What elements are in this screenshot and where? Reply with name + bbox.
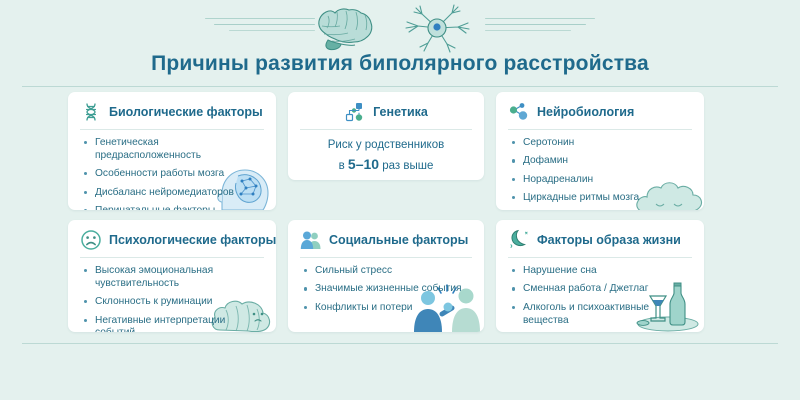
list-item: Конфликты и потери <box>304 302 474 315</box>
cards-grid: Биологические факторы Генетическая предр… <box>68 92 732 340</box>
list-item: Склонность к руминации <box>84 296 266 309</box>
card-title: Факторы образа жизни <box>537 233 681 247</box>
list-item: Генетическая предрасположенность <box>84 137 266 163</box>
card-genetics[interactable]: Генетика Риск у родственников в 5–10 раз… <box>288 92 484 180</box>
card-item-list: Генетическая предрасположенность Особенн… <box>68 137 276 210</box>
list-item: Алкоголь и психоактивные вещества <box>512 302 673 328</box>
list-item: Циркадные ритмы мозга <box>512 192 694 205</box>
card-header: Социальные факторы <box>288 220 484 257</box>
divider-top <box>22 86 778 87</box>
list-item: Сменная работа / Джетлаг <box>512 283 673 296</box>
molecule-icon <box>508 101 530 123</box>
list-item: Особенности работы мозга <box>84 168 266 181</box>
genetics-prefix: в <box>339 160 345 172</box>
card-header-rule <box>300 257 472 258</box>
card-header-rule <box>508 129 692 130</box>
people-icon <box>300 229 322 251</box>
genetics-line-1: Риск у родственников <box>298 137 474 154</box>
card-header: Психологические факторы <box>68 220 276 257</box>
card-item-list: Сильный стресс Значимые жизненные событи… <box>288 265 484 315</box>
decorative-lines-left <box>205 18 315 40</box>
moon-icon <box>508 229 530 251</box>
list-item: Негативные интерпретации событий <box>84 315 266 332</box>
card-header-rule <box>80 129 264 130</box>
list-item: Значимые жизненные события <box>304 283 474 296</box>
list-item: Серотонин <box>512 137 694 150</box>
list-item: Дофамин <box>512 155 694 168</box>
card-title: Социальные факторы <box>329 233 468 247</box>
list-item: Нарушение сна <box>512 265 673 278</box>
family-tree-icon <box>344 101 366 123</box>
header: Причины развития биполярного расстройств… <box>0 0 800 88</box>
card-title: Психологические факторы <box>109 233 276 247</box>
genetics-statement: Риск у родственников в 5–10 раз выше <box>288 137 484 174</box>
decorative-lines-right <box>485 18 595 40</box>
card-header-rule <box>300 129 472 130</box>
list-item: Высокая эмоциональная чувствительность <box>84 265 266 291</box>
infographic-page: Причины развития биполярного расстройств… <box>0 0 800 400</box>
card-biological[interactable]: Биологические факторы Генетическая предр… <box>68 92 276 210</box>
list-item: Норадреналин <box>512 174 694 187</box>
list-item: Сильный стресс <box>304 265 474 278</box>
card-title: Биологические факторы <box>109 105 263 119</box>
card-item-list: Нарушение сна Сменная работа / Джетлаг А… <box>496 265 704 327</box>
sad-face-icon <box>80 229 102 251</box>
card-psychological[interactable]: Психологические факторы Высокая эмоциона… <box>68 220 276 332</box>
card-social[interactable]: Социальные факторы Сильный стресс Значим… <box>288 220 484 332</box>
list-item: Дисбаланс нейромедиаторов <box>84 187 266 200</box>
genetics-suffix: раз выше <box>382 160 433 172</box>
list-item: Перинатальные факторы <box>84 205 266 210</box>
dna-icon <box>80 101 102 123</box>
genetics-value: 5–10 <box>348 156 379 172</box>
card-header: Генетика <box>288 92 484 129</box>
brain-icon <box>308 2 390 54</box>
card-lifestyle[interactable]: Факторы образа жизни Нарушение сна Сменн… <box>496 220 704 332</box>
card-header: Факторы образа жизни <box>496 220 704 257</box>
page-title: Причины развития биполярного расстройств… <box>0 52 800 76</box>
card-header: Биологические факторы <box>68 92 276 129</box>
card-title: Нейробиология <box>537 105 634 119</box>
card-header: Нейробиология <box>496 92 704 129</box>
hero-illustration <box>0 2 800 52</box>
card-item-list: Серотонин Дофамин Норадреналин Циркадные… <box>496 137 704 205</box>
card-item-list: Высокая эмоциональная чувствительность С… <box>68 265 276 332</box>
divider-bottom <box>22 343 778 344</box>
genetics-line-2: в 5–10 раз выше <box>298 154 474 175</box>
card-neurobiology[interactable]: Нейробиология Серотонин Дофамин Норадрен… <box>496 92 704 210</box>
card-header-rule <box>80 257 264 258</box>
card-header-rule <box>508 257 692 258</box>
neuron-icon <box>398 2 476 54</box>
card-title: Генетика <box>373 105 428 119</box>
